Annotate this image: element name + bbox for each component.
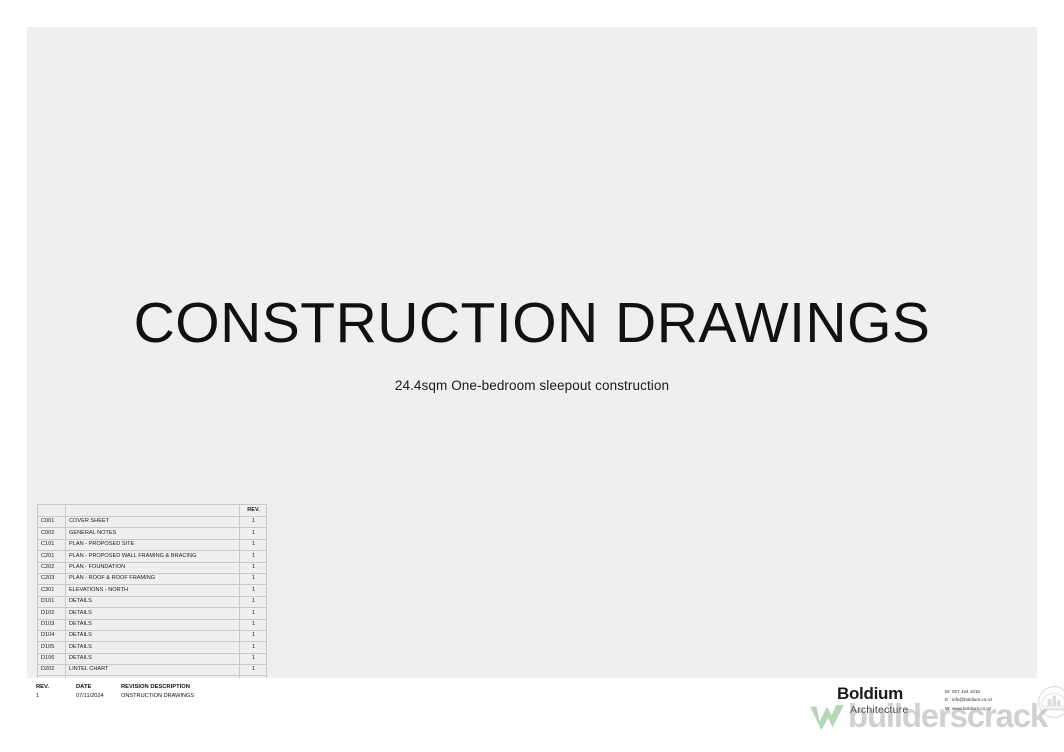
drawing-code: D105 bbox=[38, 642, 66, 653]
table-row: D102DETAILS1 bbox=[38, 608, 267, 619]
drawing-rev: 1 bbox=[240, 539, 267, 550]
circular-stamp-icon bbox=[1037, 685, 1064, 719]
contact-block: M:027 424 1010 E :info@boldium.co.nz W:w… bbox=[945, 688, 992, 713]
revision-row: 107/11/2024ONSTRUCTION DRAWINGS bbox=[36, 693, 281, 699]
table-header-row: REV. bbox=[38, 505, 267, 517]
contact-mobile-value: 027 424 1010 bbox=[952, 689, 980, 694]
header-code bbox=[38, 505, 66, 517]
drawing-description: PLAN - ROOF & ROOF FRAMING bbox=[66, 573, 240, 584]
logo-name: Boldium bbox=[837, 685, 947, 702]
drawing-description: LINTEL CHART bbox=[66, 665, 240, 676]
drawing-rev: 1 bbox=[240, 619, 267, 630]
revision-block: REV. DATE REVISION DESCRIPTION 107/11/20… bbox=[36, 684, 281, 699]
drawing-code: D106 bbox=[38, 653, 66, 664]
contact-website: W:www.boldium.co.nz bbox=[945, 705, 992, 713]
drawing-code: C001 bbox=[38, 517, 66, 528]
drawing-rev: 1 bbox=[240, 596, 267, 607]
revision-table: REV. DATE REVISION DESCRIPTION 107/11/20… bbox=[36, 684, 281, 699]
drawing-rev: 1 bbox=[240, 528, 267, 539]
revision-description: ONSTRUCTION DRAWINGS bbox=[121, 693, 281, 699]
drawing-rev: 1 bbox=[240, 653, 267, 664]
revision-header-rev: REV. bbox=[36, 684, 76, 693]
table-row: C101PLAN - PROPOSED SITE1 bbox=[38, 539, 267, 550]
table-row: D105DETAILS1 bbox=[38, 642, 267, 653]
table-row: C002GENERAL NOTES1 bbox=[38, 528, 267, 539]
drawing-rev: 1 bbox=[240, 630, 267, 641]
drawing-description: DETAILS bbox=[66, 653, 240, 664]
drawing-code: C202 bbox=[38, 562, 66, 573]
drawing-code: D102 bbox=[38, 608, 66, 619]
table-row: C001COVER SHEET1 bbox=[38, 517, 267, 528]
drawing-rev: 1 bbox=[240, 608, 267, 619]
contact-email-value: info@boldium.co.nz bbox=[952, 697, 992, 702]
table-row: C201PLAN - PROPOSED WALL FRAMING & BRACI… bbox=[38, 551, 267, 562]
revision-number: 1 bbox=[36, 693, 76, 699]
drawing-code: C101 bbox=[38, 539, 66, 550]
drawing-rev: 1 bbox=[240, 551, 267, 562]
page-title: CONSTRUCTION DRAWINGS bbox=[27, 295, 1037, 352]
contact-email-key: E : bbox=[945, 696, 952, 704]
revision-table-header: REV. DATE REVISION DESCRIPTION bbox=[36, 684, 281, 693]
contact-website-key: W: bbox=[945, 705, 952, 713]
drawing-code: D104 bbox=[38, 630, 66, 641]
drawing-description: DETAILS bbox=[66, 608, 240, 619]
drawing-rev: 1 bbox=[240, 517, 267, 528]
drawing-rev: 1 bbox=[240, 562, 267, 573]
drawing-description: DETAILS bbox=[66, 642, 240, 653]
drawing-code: D101 bbox=[38, 596, 66, 607]
drawing-sheet: CONSTRUCTION DRAWINGS 24.4sqm One-bedroo… bbox=[27, 27, 1037, 678]
page-subtitle: 24.4sqm One-bedroom sleepout constructio… bbox=[27, 378, 1037, 393]
contact-mobile-key: M: bbox=[945, 688, 952, 696]
drawing-description: ELEVATIONS - NORTH bbox=[66, 585, 240, 596]
drawing-code: C002 bbox=[38, 528, 66, 539]
drawing-code: C203 bbox=[38, 573, 66, 584]
boldium-logo: Boldium Architecture bbox=[837, 685, 947, 716]
drawing-rev: 1 bbox=[240, 573, 267, 584]
logo-tagline: Architecture bbox=[850, 705, 947, 716]
drawing-description: PLAN - PROPOSED SITE bbox=[66, 539, 240, 550]
table-row: D202LINTEL CHART1 bbox=[38, 665, 267, 676]
table-row: C301ELEVATIONS - NORTH1 bbox=[38, 585, 267, 596]
contact-email: E :info@boldium.co.nz bbox=[945, 696, 992, 704]
drawing-code: C201 bbox=[38, 551, 66, 562]
drawing-description: COVER SHEET bbox=[66, 517, 240, 528]
drawing-code: C301 bbox=[38, 585, 66, 596]
header-description bbox=[66, 505, 240, 517]
table-row: D103DETAILS1 bbox=[38, 619, 267, 630]
drawing-description: GENERAL NOTES bbox=[66, 528, 240, 539]
drawing-code: D103 bbox=[38, 619, 66, 630]
contact-website-value: www.boldium.co.nz bbox=[952, 706, 991, 711]
revision-header-date: DATE bbox=[76, 684, 121, 693]
drawing-rev: 1 bbox=[240, 642, 267, 653]
drawing-rev: 1 bbox=[240, 585, 267, 596]
drawing-list-header: REV. bbox=[38, 505, 267, 517]
table-row: C203PLAN - ROOF & ROOF FRAMING1 bbox=[38, 573, 267, 584]
drawing-description: PLAN - PROPOSED WALL FRAMING & BRACING bbox=[66, 551, 240, 562]
drawing-description: PLAN - FOUNDATION bbox=[66, 562, 240, 573]
title-area: CONSTRUCTION DRAWINGS 24.4sqm One-bedroo… bbox=[27, 295, 1037, 393]
revision-date: 07/11/2024 bbox=[76, 693, 121, 699]
drawing-code: D202 bbox=[38, 665, 66, 676]
contact-mobile: M:027 424 1010 bbox=[945, 688, 992, 696]
revision-table-body: 107/11/2024ONSTRUCTION DRAWINGS bbox=[36, 693, 281, 699]
drawing-rev: 1 bbox=[240, 665, 267, 676]
revision-header-description: REVISION DESCRIPTION bbox=[121, 684, 281, 693]
table-row: D104DETAILS1 bbox=[38, 630, 267, 641]
title-block: REV. DATE REVISION DESCRIPTION 107/11/20… bbox=[27, 678, 1037, 725]
table-row: C202PLAN - FOUNDATION1 bbox=[38, 562, 267, 573]
drawing-description: DETAILS bbox=[66, 596, 240, 607]
revision-header-row: REV. DATE REVISION DESCRIPTION bbox=[36, 684, 281, 693]
table-row: D106DETAILS1 bbox=[38, 653, 267, 664]
drawing-description: DETAILS bbox=[66, 630, 240, 641]
table-row: D101DETAILS1 bbox=[38, 596, 267, 607]
header-rev: REV. bbox=[240, 505, 267, 517]
drawing-description: DETAILS bbox=[66, 619, 240, 630]
